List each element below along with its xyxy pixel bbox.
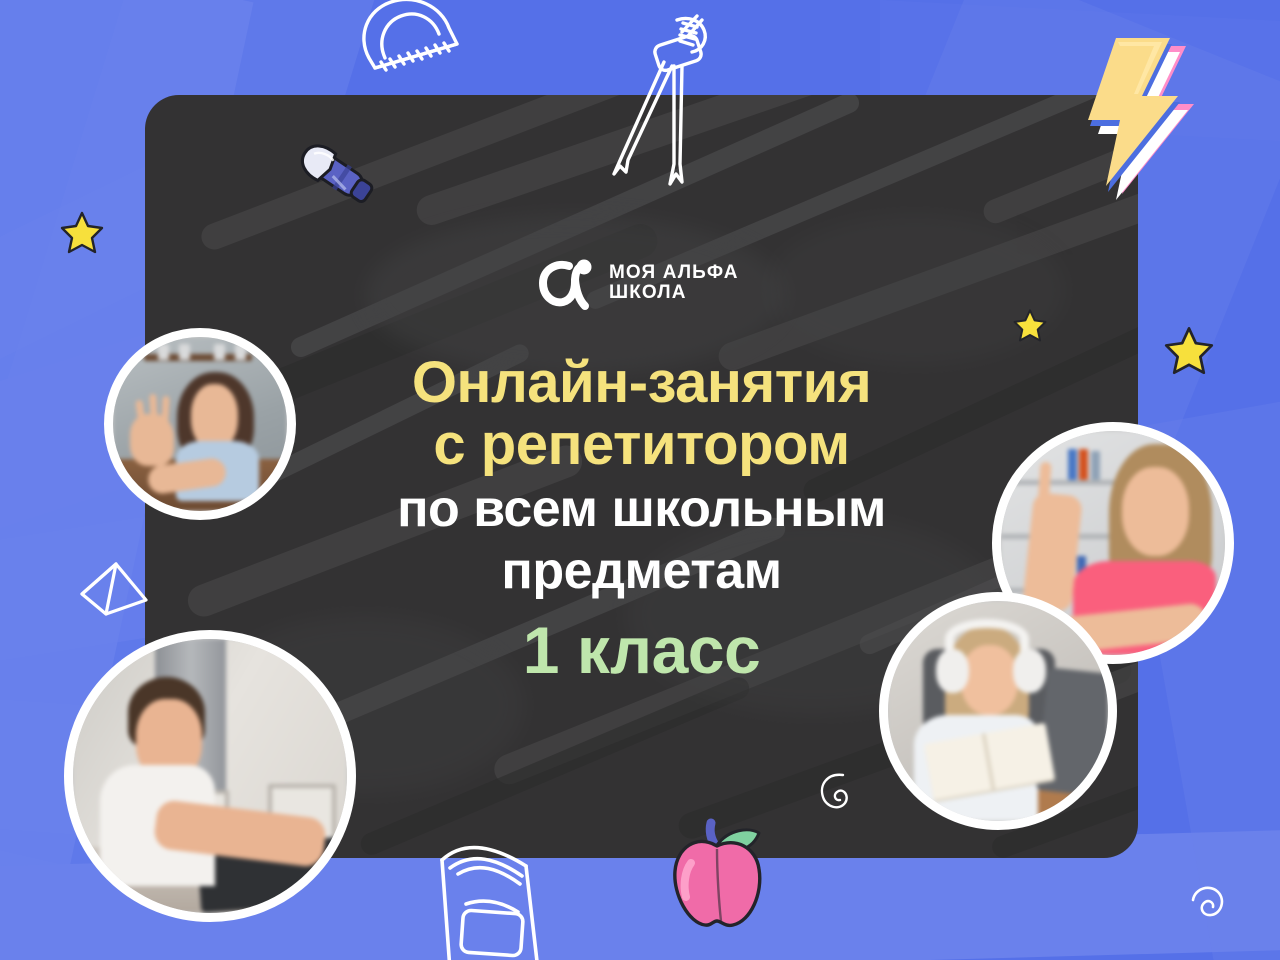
pen-icon — [270, 118, 390, 228]
alpha-logo-mark — [535, 252, 597, 314]
apple-icon — [655, 815, 775, 940]
promo-banner: МОЯ АЛЬФА ШКОЛА Онлайн-занятия с репетит… — [0, 0, 1280, 960]
student-photo-waving-girl — [104, 328, 296, 520]
protractor-icon — [345, 0, 475, 88]
student-photo-girl-headphones-book — [879, 592, 1117, 830]
brand-logo: МОЯ АЛЬФА ШКОЛА — [535, 252, 739, 314]
headline-line-3: по всем школьным — [145, 482, 1138, 538]
headline: Онлайн-занятия с репетитором по всем шко… — [145, 352, 1138, 599]
star-icon — [1013, 308, 1047, 342]
star-icon — [60, 210, 104, 254]
book-icon — [420, 820, 560, 960]
headline-line-4: предметам — [145, 544, 1138, 600]
compass-divider-icon — [604, 14, 734, 204]
spiral-icon — [813, 767, 859, 823]
pyramid-icon — [78, 556, 150, 628]
spiral-icon — [1188, 882, 1230, 924]
star-icon — [1164, 325, 1214, 375]
brand-logo-text: МОЯ АЛЬФА ШКОЛА — [609, 263, 739, 303]
brand-logo-line2: ШКОЛА — [609, 283, 739, 303]
student-photo-boy-laptop — [64, 630, 356, 922]
brand-logo-line1: МОЯ АЛЬФА — [609, 263, 739, 283]
lightning-bolt-icon — [1062, 24, 1202, 199]
